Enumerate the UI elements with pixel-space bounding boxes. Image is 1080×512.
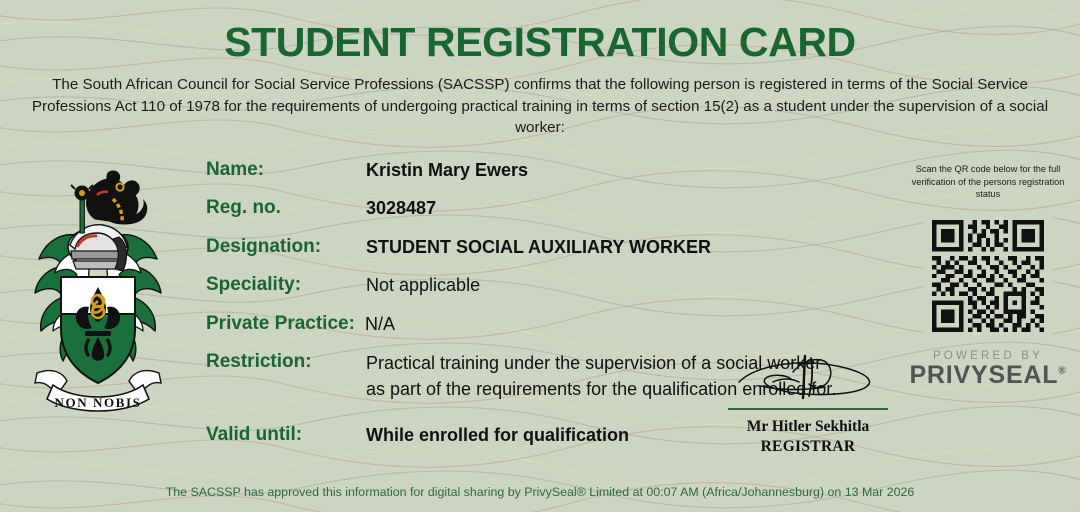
field-value-designation: STUDENT SOCIAL AUXILIARY WORKER (366, 236, 711, 259)
field-label-restriction: Restriction: (206, 351, 366, 373)
student-registration-card: STUDENT REGISTRATION CARD The South Afri… (0, 0, 1080, 512)
registrar-name: Mr Hitler Sekhitla (728, 416, 888, 438)
card-body: NON NOBIS Name: Kristin Mary Ewers Reg. … (0, 153, 1080, 462)
field-value-valid-until: While enrolled for qualification (366, 424, 629, 447)
field-row-speciality: Speciality: Not applicable (206, 274, 896, 297)
field-label-name: Name: (206, 159, 366, 181)
field-value-private-practice: N/A (365, 313, 395, 336)
field-row-designation: Designation: STUDENT SOCIAL AUXILIARY WO… (206, 236, 896, 259)
field-value-reg-no: 3028487 (366, 197, 436, 220)
field-row-private-practice: Private Practice: N/A (206, 313, 896, 336)
qr-column: Scan the QR code below for the full veri… (896, 153, 1080, 462)
qr-code-wrapper[interactable] (896, 211, 1080, 341)
signature-block: Mr Hitler Sekhitla REGISTRAR (728, 352, 888, 456)
field-label-valid-until: Valid until: (206, 424, 366, 446)
field-value-name: Kristin Mary Ewers (366, 159, 528, 182)
field-value-speciality: Not applicable (366, 274, 480, 297)
page-title: STUDENT REGISTRATION CARD (0, 0, 1080, 64)
field-label-private-practice: Private Practice: (206, 313, 366, 335)
qr-code[interactable] (923, 211, 1053, 341)
registrar-role: REGISTRAR (728, 438, 888, 456)
signature-icon (733, 352, 883, 402)
field-label-designation: Designation: (206, 236, 366, 258)
registered-trademark-icon: ® (1058, 366, 1066, 377)
qr-caption: Scan the QR code below for the full veri… (896, 163, 1080, 201)
footer-approval-text: The SACSSP has approved this information… (0, 485, 1080, 499)
signature-rule (728, 408, 888, 410)
field-label-reg-no: Reg. no. (206, 197, 366, 219)
sacssp-coat-of-arms-icon: NON NOBIS (23, 159, 173, 414)
field-row-reg-no: Reg. no. 3028487 (206, 197, 896, 220)
privyseal-logo: PRIVYSEAL® (896, 362, 1080, 388)
field-row-name: Name: Kristin Mary Ewers (206, 159, 896, 182)
crest-motto: NON NOBIS (55, 395, 142, 410)
coat-of-arms-column: NON NOBIS (0, 153, 196, 462)
intro-paragraph: The South African Council for Social Ser… (30, 74, 1050, 139)
field-label-speciality: Speciality: (206, 274, 366, 296)
privyseal-wordmark: PRIVYSEAL (909, 361, 1058, 389)
